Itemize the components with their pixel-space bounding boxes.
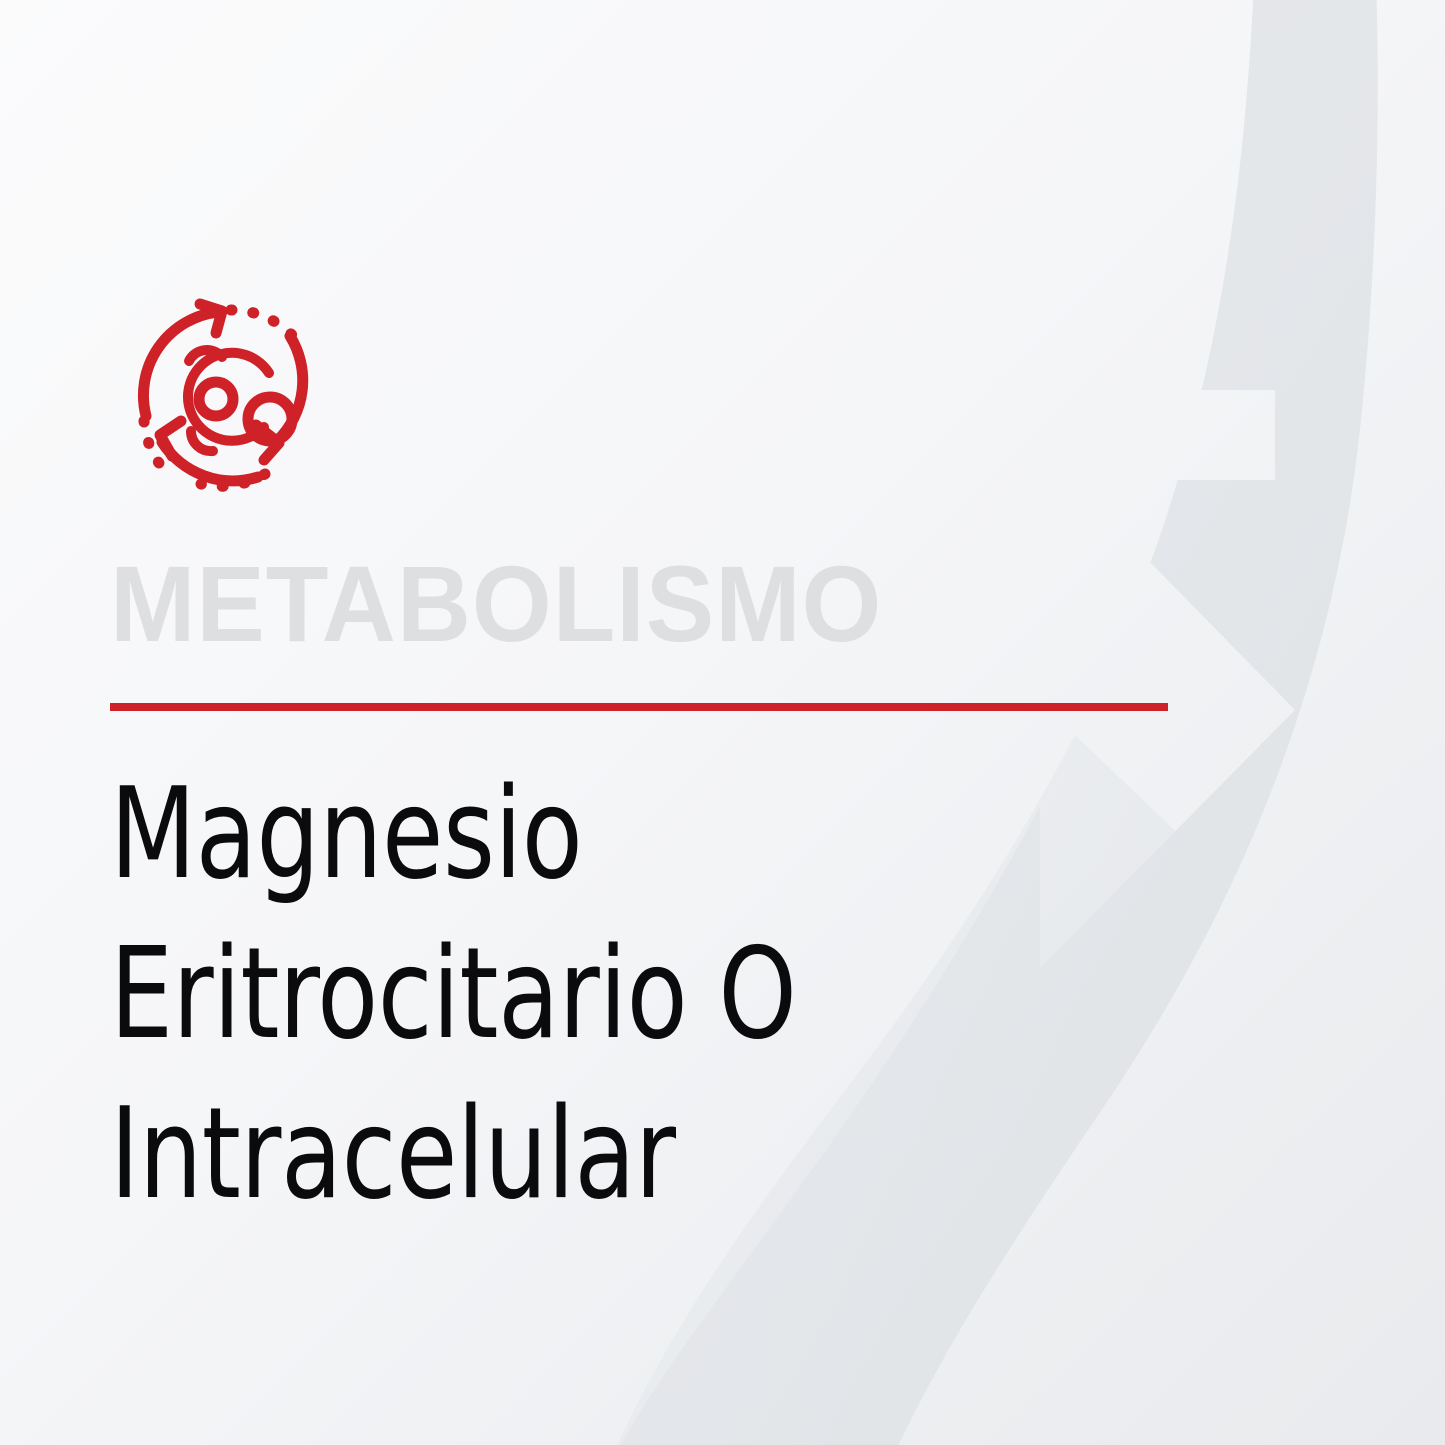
page-title-line-2: Eritrocitario O <box>110 914 972 1074</box>
exam-card: METABOLISMO Magnesio Eritrocitario O Int… <box>0 0 1445 1445</box>
cell-nucleus-left <box>199 382 233 416</box>
page-title-line-3: Intracelular <box>110 1074 972 1234</box>
cycle-arrow-head-bottom <box>160 421 181 456</box>
content-column: METABOLISMO Magnesio Eritrocitario O Int… <box>110 0 1210 1445</box>
category-label: METABOLISMO <box>110 548 882 660</box>
metabolism-cycle-icon <box>118 288 340 510</box>
page-title: Magnesio Eritrocitario O Intracelular <box>110 754 972 1234</box>
accent-divider <box>110 703 1168 711</box>
page-title-line-1: Magnesio <box>110 754 972 914</box>
